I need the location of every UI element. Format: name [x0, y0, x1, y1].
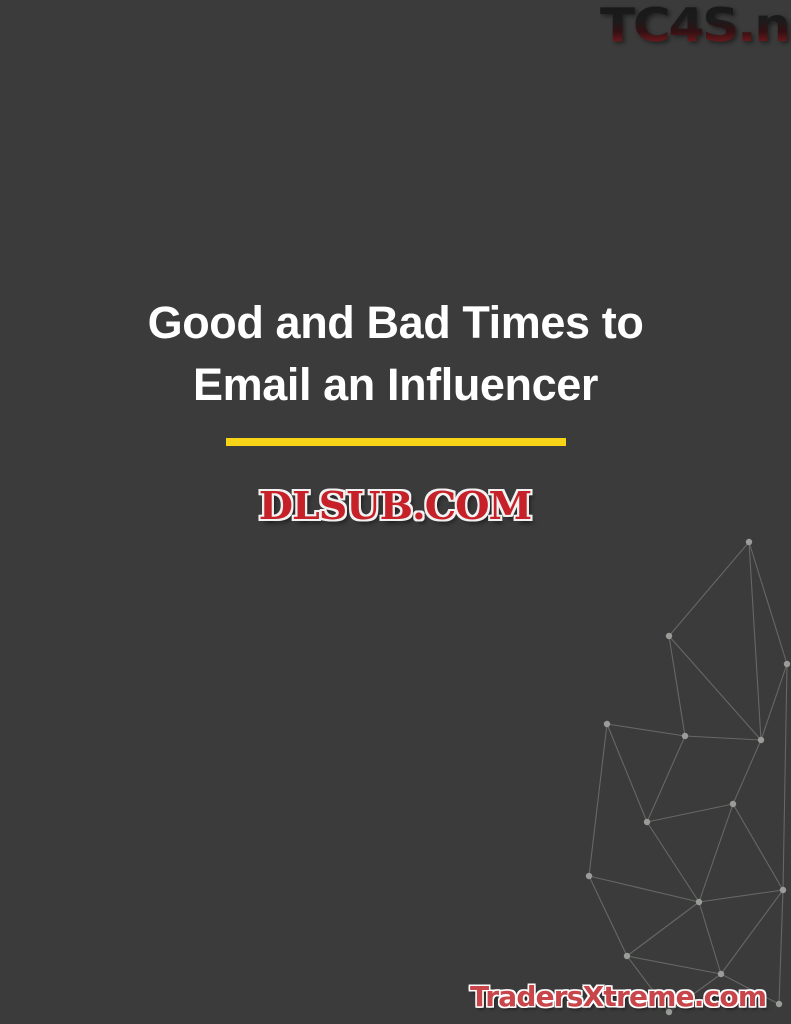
network-node [780, 887, 786, 893]
network-edge [589, 876, 699, 902]
divider-wrapper [0, 438, 791, 456]
network-edge [607, 724, 647, 822]
network-edge [627, 902, 699, 956]
network-node [746, 539, 752, 545]
network-edge [761, 664, 787, 740]
network-node [624, 953, 630, 959]
watermark-top-right-text: TC4S.net [600, 0, 791, 54]
network-edge [647, 804, 733, 822]
network-edge [647, 822, 699, 902]
network-edge [699, 890, 783, 902]
network-edge [749, 542, 761, 740]
network-edge [721, 890, 783, 974]
network-mesh-edges [589, 542, 787, 1012]
network-mesh-icon [551, 504, 791, 1024]
network-edge [647, 736, 685, 822]
network-edge [733, 804, 783, 890]
network-edge [669, 636, 761, 740]
network-edge [607, 724, 685, 736]
network-node [586, 873, 592, 879]
page-title: Good and Bad Times to Email an Influence… [0, 292, 791, 416]
network-edge [627, 956, 721, 974]
slide-canvas: TC4S.net Good and Bad Times to Email an … [0, 0, 791, 1024]
network-edge [699, 902, 721, 974]
watermark-brand-logo: DLSUB.COM [0, 484, 791, 528]
network-node [604, 721, 610, 727]
network-node [644, 819, 650, 825]
title-block: Good and Bad Times to Email an Influence… [0, 292, 791, 416]
network-edge [783, 664, 787, 890]
network-edge [669, 542, 749, 636]
network-edge [733, 740, 761, 804]
network-node [718, 971, 724, 977]
network-edge [685, 736, 761, 740]
network-edge [589, 724, 607, 876]
network-edge [669, 636, 685, 736]
watermark-top-right: TC4S.net [600, 0, 791, 58]
title-divider [226, 438, 566, 446]
network-node [682, 733, 688, 739]
watermark-brand-logo-text: DLSUB.COM [259, 484, 531, 528]
network-mesh-nodes [586, 539, 790, 1015]
network-node [696, 899, 702, 905]
network-edge [749, 542, 787, 664]
network-node [784, 661, 790, 667]
network-mesh-svg [551, 504, 791, 1024]
watermark-bottom-right-text: TradersXtreme.com [470, 978, 791, 1016]
network-node [730, 801, 736, 807]
network-node [758, 737, 764, 743]
watermark-bottom-right: TradersXtreme.com [470, 978, 791, 1024]
network-edge [589, 876, 627, 956]
network-edge [699, 804, 733, 902]
network-node [666, 633, 672, 639]
